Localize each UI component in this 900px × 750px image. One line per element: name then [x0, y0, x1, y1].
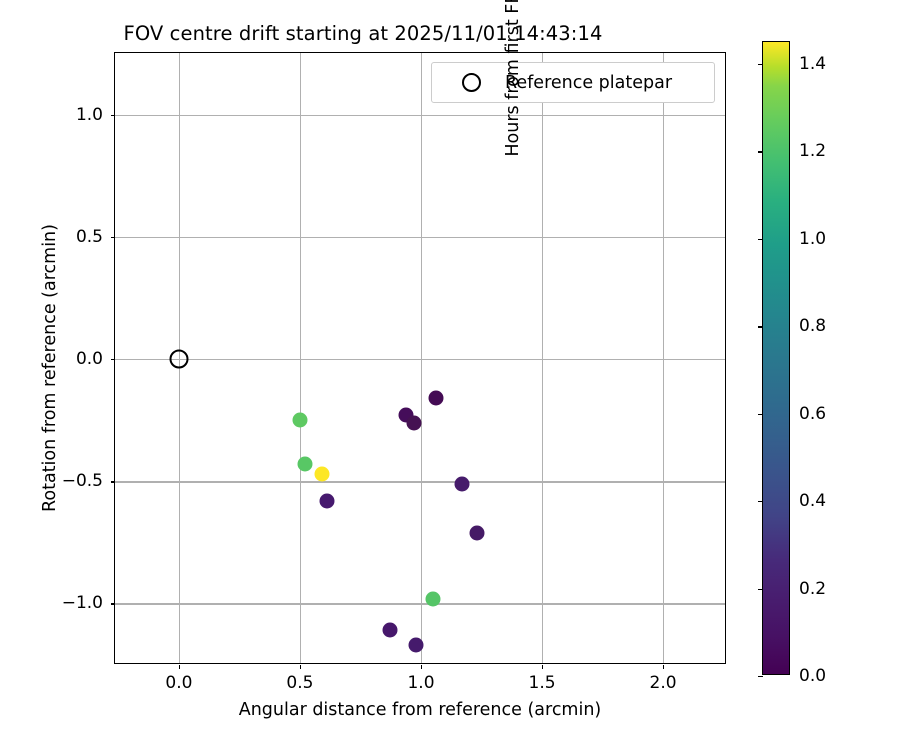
colorbar-tick — [758, 239, 763, 240]
data-point[interactable] — [469, 525, 484, 540]
x-tick-label: 1.5 — [529, 673, 556, 693]
y-tick-label: −1.0 — [62, 593, 103, 613]
colorbar-tick-label: 0.4 — [799, 491, 826, 511]
colorbar-tick-label: 1.4 — [799, 54, 826, 74]
y-gridline — [115, 481, 725, 482]
colorbar-tick — [758, 589, 763, 590]
x-tick — [300, 665, 301, 669]
y-tick-label: 0.0 — [76, 349, 103, 369]
x-tick — [179, 665, 180, 669]
colorbar-tick-label: 0.8 — [799, 316, 826, 336]
y-gridline — [115, 115, 725, 116]
x-gridline — [663, 53, 664, 663]
colorbar-title: Hours from first FF file — [503, 0, 523, 369]
data-point[interactable] — [455, 476, 470, 491]
y-tick-label: −0.5 — [62, 471, 103, 491]
data-point[interactable] — [382, 623, 397, 638]
data-point[interactable] — [314, 466, 329, 481]
x-gridline — [300, 53, 301, 663]
legend-item-label: Reference platepar — [505, 73, 672, 93]
y-tick — [111, 603, 115, 604]
data-point[interactable] — [292, 413, 307, 428]
colorbar-tick — [758, 64, 763, 65]
y-tick-label: 1.0 — [76, 105, 103, 125]
colorbar-tick-label: 1.2 — [799, 141, 826, 161]
data-point[interactable] — [409, 637, 424, 652]
figure: FOV centre drift starting at 2025/11/01 … — [0, 0, 900, 750]
data-point[interactable] — [428, 391, 443, 406]
data-point[interactable] — [426, 591, 441, 606]
colorbar-tick-label: 0.0 — [799, 666, 826, 686]
colorbar-tick — [758, 501, 763, 502]
y-tick — [111, 481, 115, 482]
data-point[interactable] — [319, 493, 334, 508]
colorbar-tick-label: 0.2 — [799, 579, 826, 599]
x-tick — [421, 665, 422, 669]
colorbar-tick — [758, 414, 763, 415]
y-gridline — [115, 237, 725, 238]
reference-platepar-marker[interactable] — [169, 350, 188, 369]
x-tick — [663, 665, 664, 669]
y-tick-label: 0.5 — [76, 227, 103, 247]
colorbar-tick-label: 0.6 — [799, 404, 826, 424]
colorbar-tick — [758, 151, 763, 152]
x-gridline — [421, 53, 422, 663]
data-point[interactable] — [406, 415, 421, 430]
x-tick-label: 0.5 — [286, 673, 313, 693]
x-tick-label: 0.0 — [165, 673, 192, 693]
x-axis-label: Angular distance from reference (arcmin) — [114, 700, 726, 720]
colorbar-tick-label: 1.0 — [799, 229, 826, 249]
colorbar[interactable]: Hours from first FF file 0.00.20.40.60.8… — [762, 41, 790, 675]
chart-title: FOV centre drift starting at 2025/11/01 … — [0, 22, 726, 45]
y-axis-label: Rotation from reference (arcmin) — [40, 88, 60, 648]
y-tick — [111, 237, 115, 238]
plot-axes[interactable]: 0.00.51.01.52.01.00.50.0−0.5−1.0 — [114, 52, 726, 664]
x-tick — [542, 665, 543, 669]
y-tick — [111, 115, 115, 116]
x-tick-label: 2.0 — [650, 673, 677, 693]
y-tick — [111, 359, 115, 360]
y-gridline — [115, 359, 725, 360]
x-gridline — [542, 53, 543, 663]
legend[interactable]: Reference platepar — [431, 62, 715, 103]
reference-platepar-icon — [462, 73, 481, 92]
x-tick-label: 1.0 — [407, 673, 434, 693]
y-gridline — [115, 603, 725, 604]
data-point[interactable] — [297, 457, 312, 472]
colorbar-tick — [758, 326, 763, 327]
colorbar-tick — [758, 676, 763, 677]
